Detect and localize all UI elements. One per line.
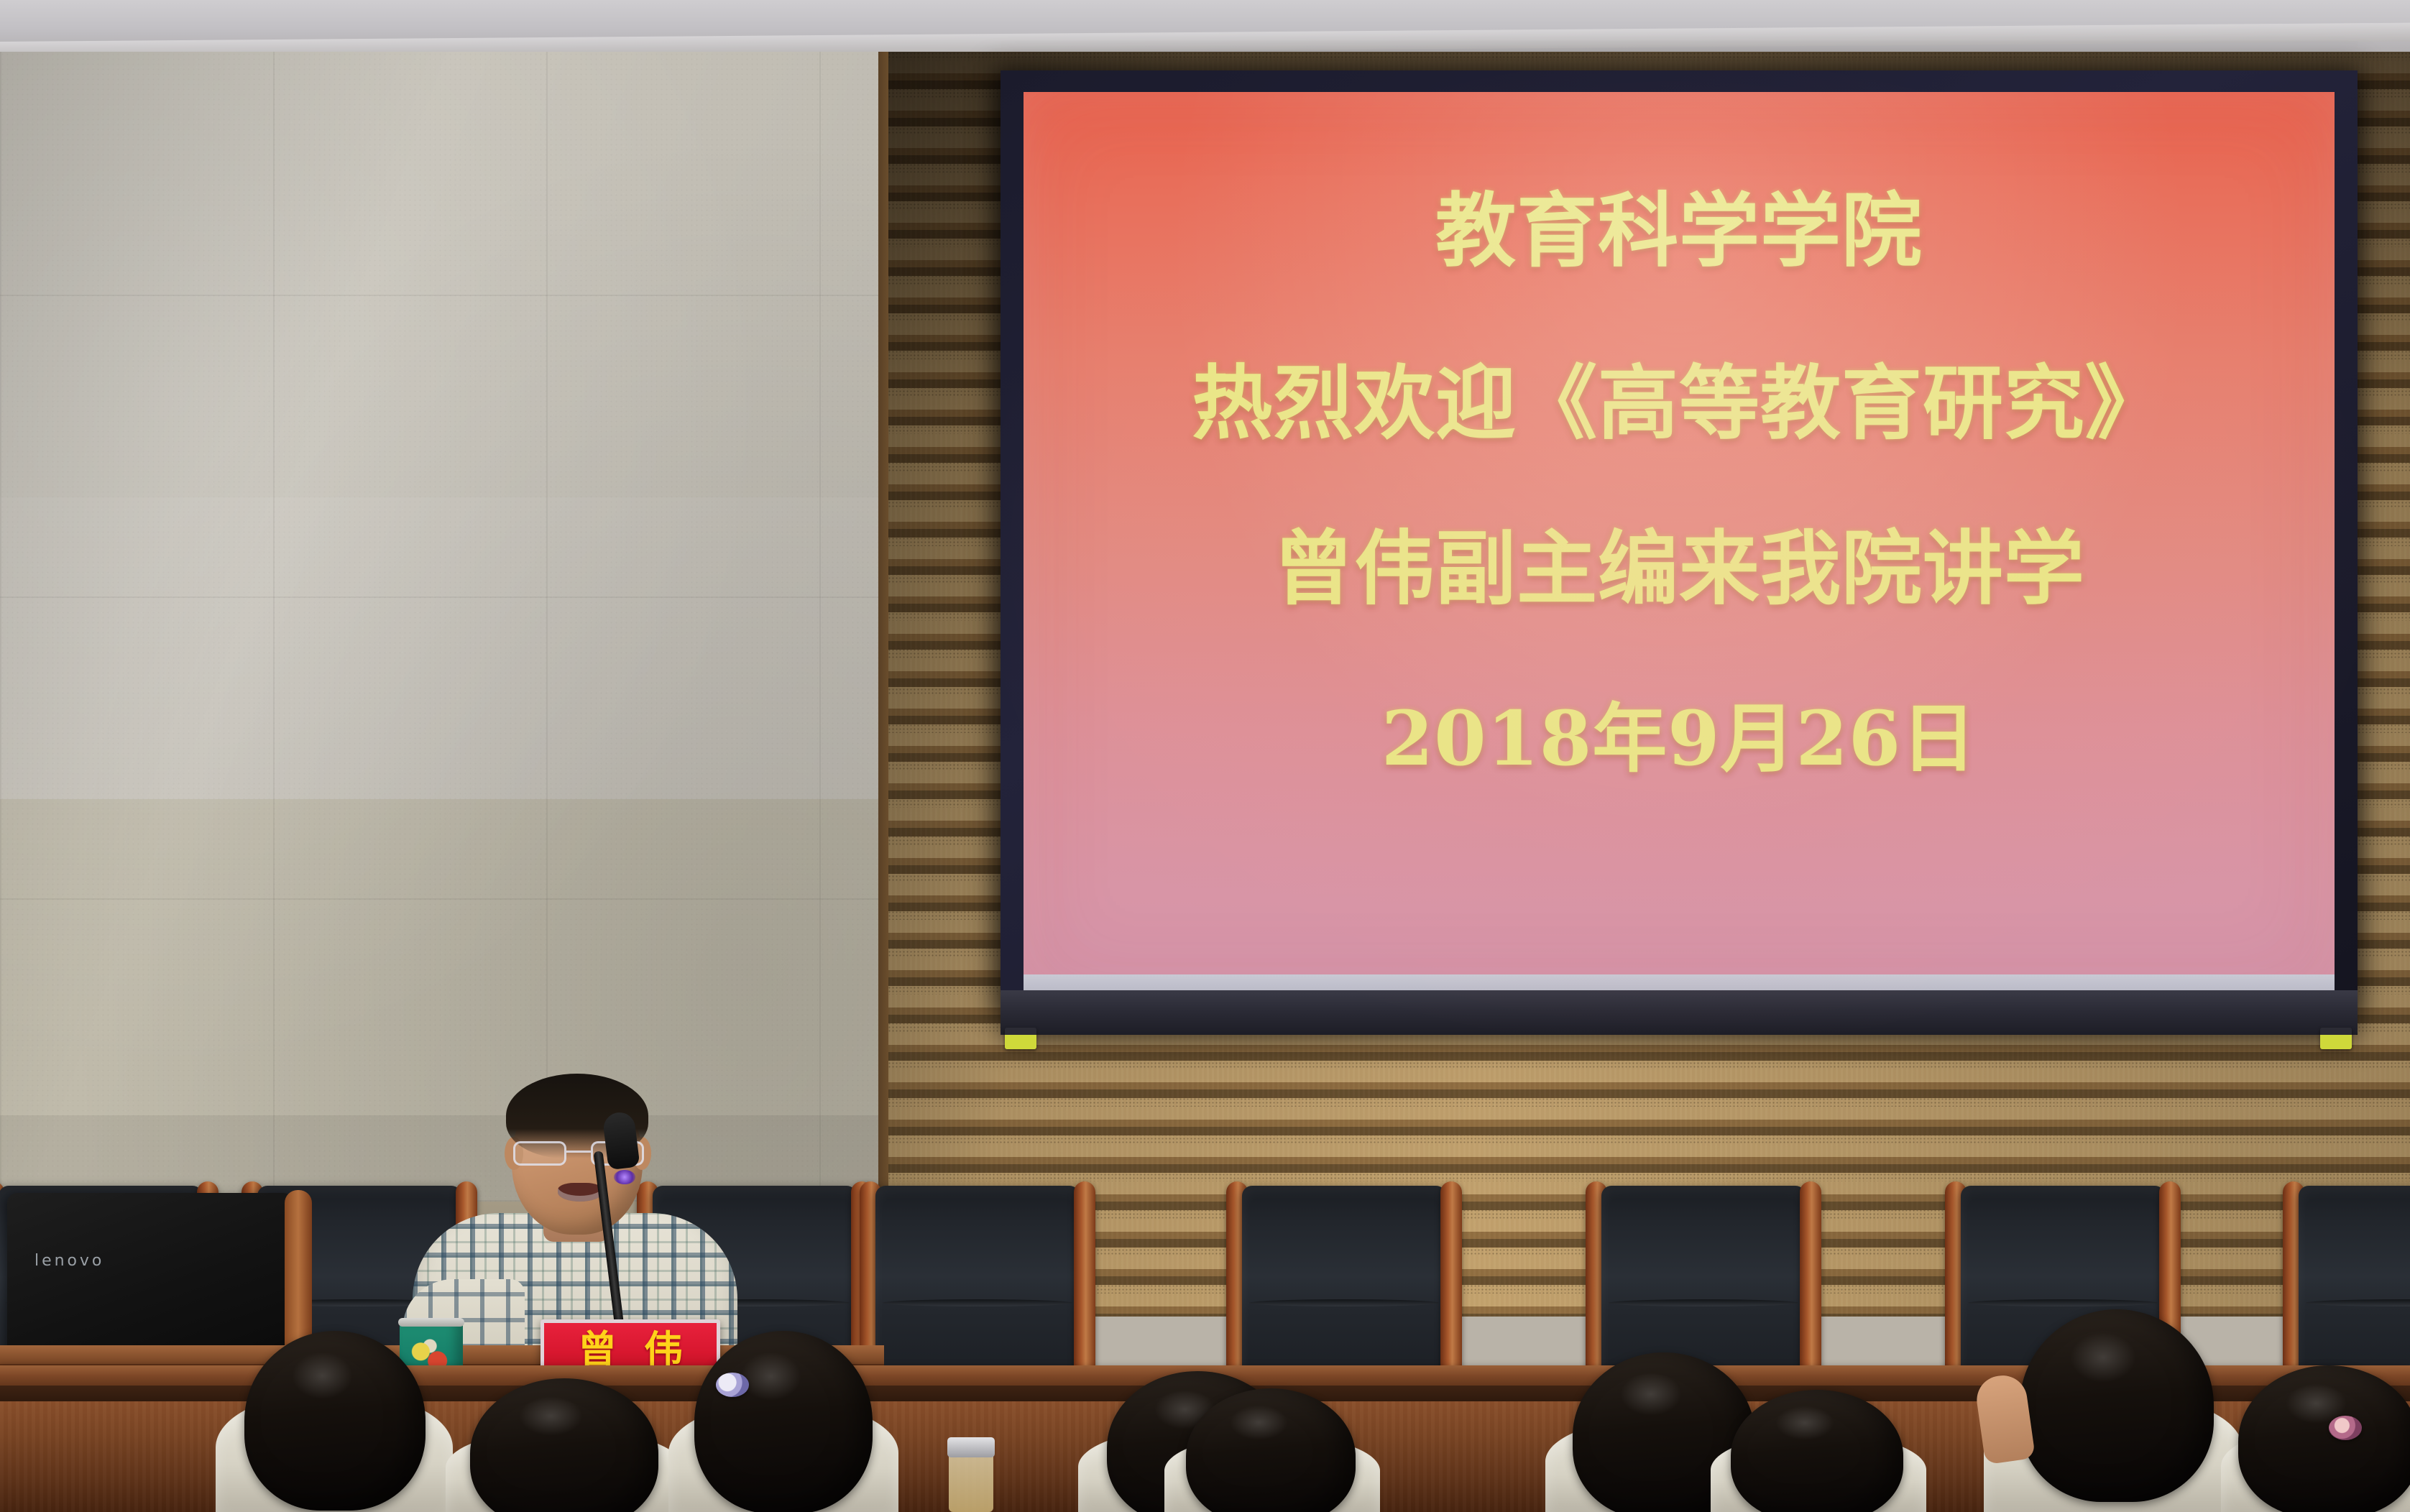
audience-member (1164, 1436, 1380, 1512)
audience-member (2221, 1427, 2410, 1512)
stone-tile-wall (0, 52, 878, 1202)
screen-bracket-left (1005, 1028, 1036, 1049)
hair-clip (2329, 1416, 2362, 1440)
stone-shading (0, 52, 878, 1202)
audience-member (1711, 1434, 1926, 1512)
audience-member (668, 1403, 898, 1512)
nameplate-surname: 曾 (578, 1330, 617, 1369)
chair-back (2299, 1186, 2410, 1388)
audience-head (694, 1331, 873, 1512)
chair (1222, 1179, 1466, 1394)
slide-text-block: 教育科学学院 热烈欢迎《高等教育研究》 曾伟副主编来我院讲学 2018年9月26… (1024, 92, 2335, 997)
chair-arm-right (1800, 1181, 1821, 1391)
audience-head (244, 1331, 426, 1511)
lecture-hall-scene: 教育科学学院 热烈欢迎《高等教育研究》 曾伟副主编来我院讲学 2018年9月26… (0, 0, 2410, 1512)
slide-line-institute: 教育科学学院 (1435, 191, 1923, 272)
slide-line-date: 2018年9月26日 (1381, 701, 1977, 776)
mug-rim (398, 1318, 464, 1327)
nameplate-given-name: 伟 (644, 1330, 683, 1369)
audience-head (2020, 1309, 2214, 1502)
speaker-mouth (558, 1183, 602, 1202)
chair (855, 1179, 1100, 1394)
slide-line-speaker: 曾伟副主编来我院讲学 (1273, 529, 2085, 609)
laptop (7, 1193, 293, 1371)
screen-bracket-right (2320, 1028, 2352, 1049)
stone-texture (0, 52, 878, 1202)
audience-member (446, 1430, 683, 1512)
audience-head (1731, 1390, 1903, 1512)
water-bottle (949, 1450, 993, 1512)
audience-head (2238, 1365, 2410, 1512)
chair-back (1242, 1186, 1446, 1388)
hair-clip (716, 1373, 749, 1397)
microphone-led (614, 1170, 635, 1184)
slide-line-welcome: 热烈欢迎《高等教育研究》 (1192, 364, 2166, 444)
laptop-brand-label: lenovo (35, 1252, 121, 1269)
audience-member (1984, 1394, 2243, 1512)
screen-roller-bar (1001, 990, 2358, 1035)
water-bottle-cap (947, 1437, 995, 1457)
lens-left (513, 1141, 566, 1166)
glasses-bridge (566, 1151, 591, 1153)
chair (2278, 1179, 2410, 1394)
projection-screen-surface: 教育科学学院 热烈欢迎《高等教育研究》 曾伟副主编来我院讲学 2018年9月26… (1024, 92, 2335, 997)
chair-back (875, 1186, 1080, 1388)
audience-member (216, 1393, 453, 1512)
chair-arm-right (1074, 1181, 1095, 1391)
chair-arm-right (1440, 1181, 1462, 1391)
